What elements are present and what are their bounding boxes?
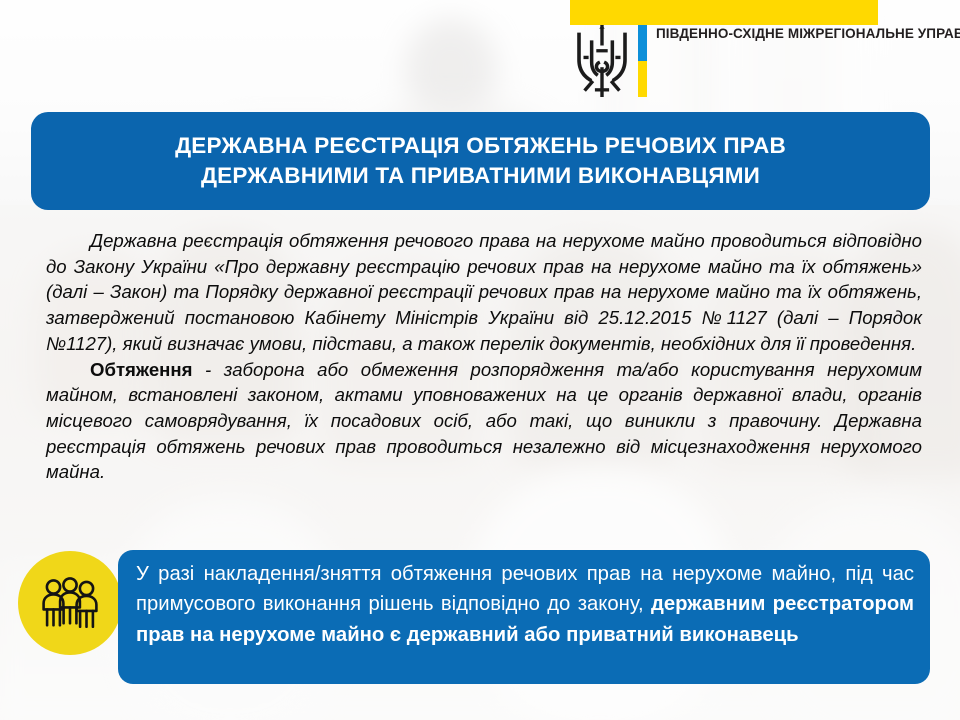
paragraph-1-text: Державна реєстрація обтяження речового п… (46, 230, 922, 354)
page-title: ДЕРЖАВНА РЕЄСТРАЦІЯ ОБТЯЖЕНЬ РЕЧОВИХ ПРА… (175, 131, 786, 191)
definition-term: Обтяження (90, 359, 193, 380)
callout-text: У разі накладення/зняття обтяження речов… (136, 559, 914, 650)
ukraine-trident-icon (572, 25, 632, 97)
callout-icon-badge (18, 551, 122, 655)
slide-root: ПІВДЕННО-СХІДНЕ МІЖРЕГІОНАЛЬНЕ УПРАВЛІНН… (0, 0, 960, 720)
organization-logo: ПІВДЕННО-СХІДНЕ МІЖРЕГІОНАЛЬНЕ УПРАВЛІНН… (570, 25, 960, 97)
yellow-banner (570, 0, 878, 25)
organization-name: ПІВДЕННО-СХІДНЕ МІЖРЕГІОНАЛЬНЕ УПРАВЛІНН… (656, 25, 960, 42)
blue-yellow-flag-bar-icon (638, 25, 647, 97)
people-group-icon (39, 577, 101, 629)
paragraph-definition: Обтяження - заборона або обмеження розпо… (46, 357, 922, 486)
body-content: Державна реєстрація обтяження речового п… (46, 228, 922, 485)
paragraph-legal-basis: Державна реєстрація обтяження речового п… (46, 228, 922, 357)
callout-box: У разі накладення/зняття обтяження речов… (118, 550, 930, 684)
slide-title-banner: ДЕРЖАВНА РЕЄСТРАЦІЯ ОБТЯЖЕНЬ РЕЧОВИХ ПРА… (31, 112, 930, 210)
